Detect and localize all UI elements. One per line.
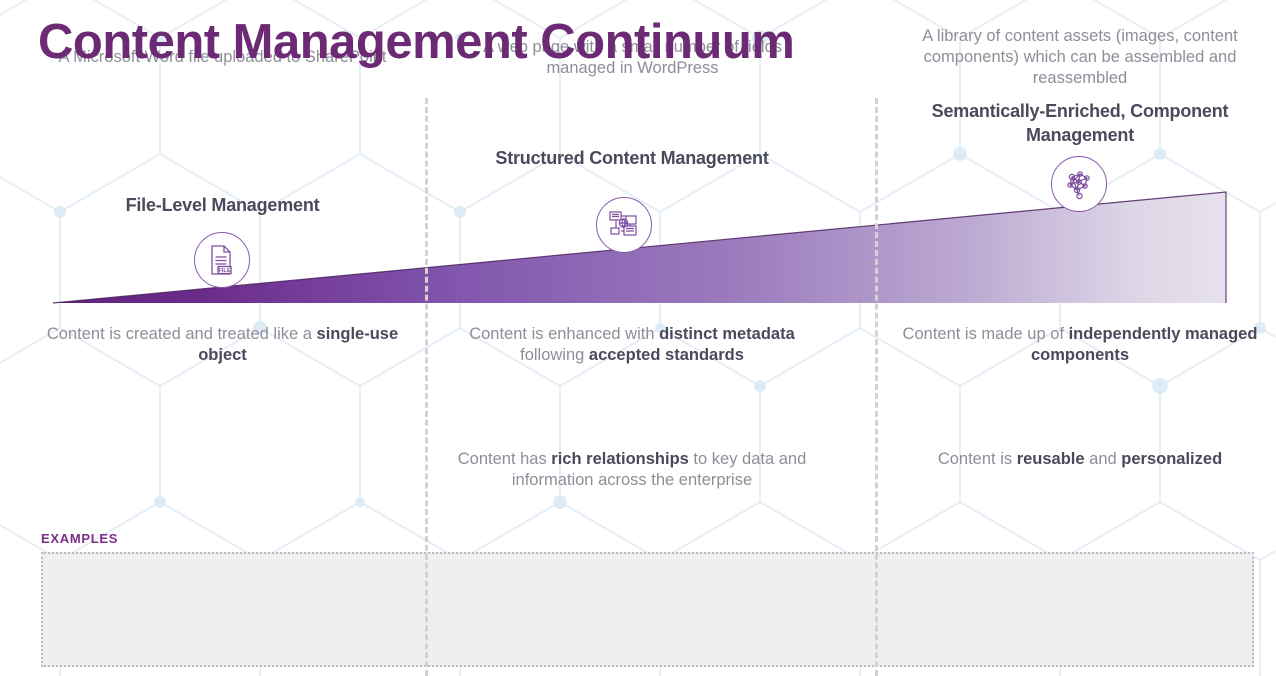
desc-1a-pre: Content is created and treated like a	[47, 325, 317, 343]
stage-icon-wrap-1: FILE	[194, 232, 250, 288]
desc-2a-pre: Content is enhanced with	[469, 325, 659, 343]
desc-2b-pre: Content has	[458, 450, 552, 468]
desc-3a-pre: Content is made up of	[903, 325, 1069, 343]
desc-3b-pre: Content is	[938, 450, 1017, 468]
desc-3b-bold2: personalized	[1121, 450, 1222, 468]
desc-3b-bold: reusable	[1017, 450, 1085, 468]
stage-heading-1: File-Level Management	[45, 193, 400, 217]
example-text-3: A library of content assets (images, con…	[905, 0, 1255, 115]
stage-description-3b: Content is reusable and personalized	[900, 449, 1260, 470]
desc-2a-post: following	[520, 346, 589, 364]
svg-text:FILE: FILE	[218, 268, 230, 274]
desc-2a-bold: distinct metadata	[659, 325, 795, 343]
document-file-icon: FILE	[194, 232, 250, 288]
desc-3b-post: and	[1085, 450, 1122, 468]
desc-2a-bold2: accepted standards	[589, 346, 744, 364]
stage-description-2b: Content has rich relationships to key da…	[442, 449, 822, 491]
structured-flowchart-icon	[596, 197, 652, 253]
column-divider-1	[425, 98, 428, 676]
infographic-canvas: Content Management Continuum File-Level …	[0, 0, 1276, 676]
examples-label: EXAMPLES	[41, 531, 118, 546]
stage-icon-wrap-2	[596, 197, 652, 253]
stage-heading-2: Structured Content Management	[452, 146, 812, 170]
examples-box	[41, 552, 1254, 667]
page-title: Content Management Continuum	[38, 14, 794, 70]
desc-2b-bold: rich relationships	[551, 450, 689, 468]
column-divider-2	[875, 98, 878, 676]
stage-description-3a: Content is made up of independently mana…	[900, 324, 1260, 366]
semantic-network-icon	[1051, 156, 1107, 212]
stage-description-1a: Content is created and treated like a si…	[45, 324, 400, 366]
stage-icon-wrap-3	[1051, 156, 1107, 212]
stage-description-2a: Content is enhanced with distinct metada…	[452, 324, 812, 366]
